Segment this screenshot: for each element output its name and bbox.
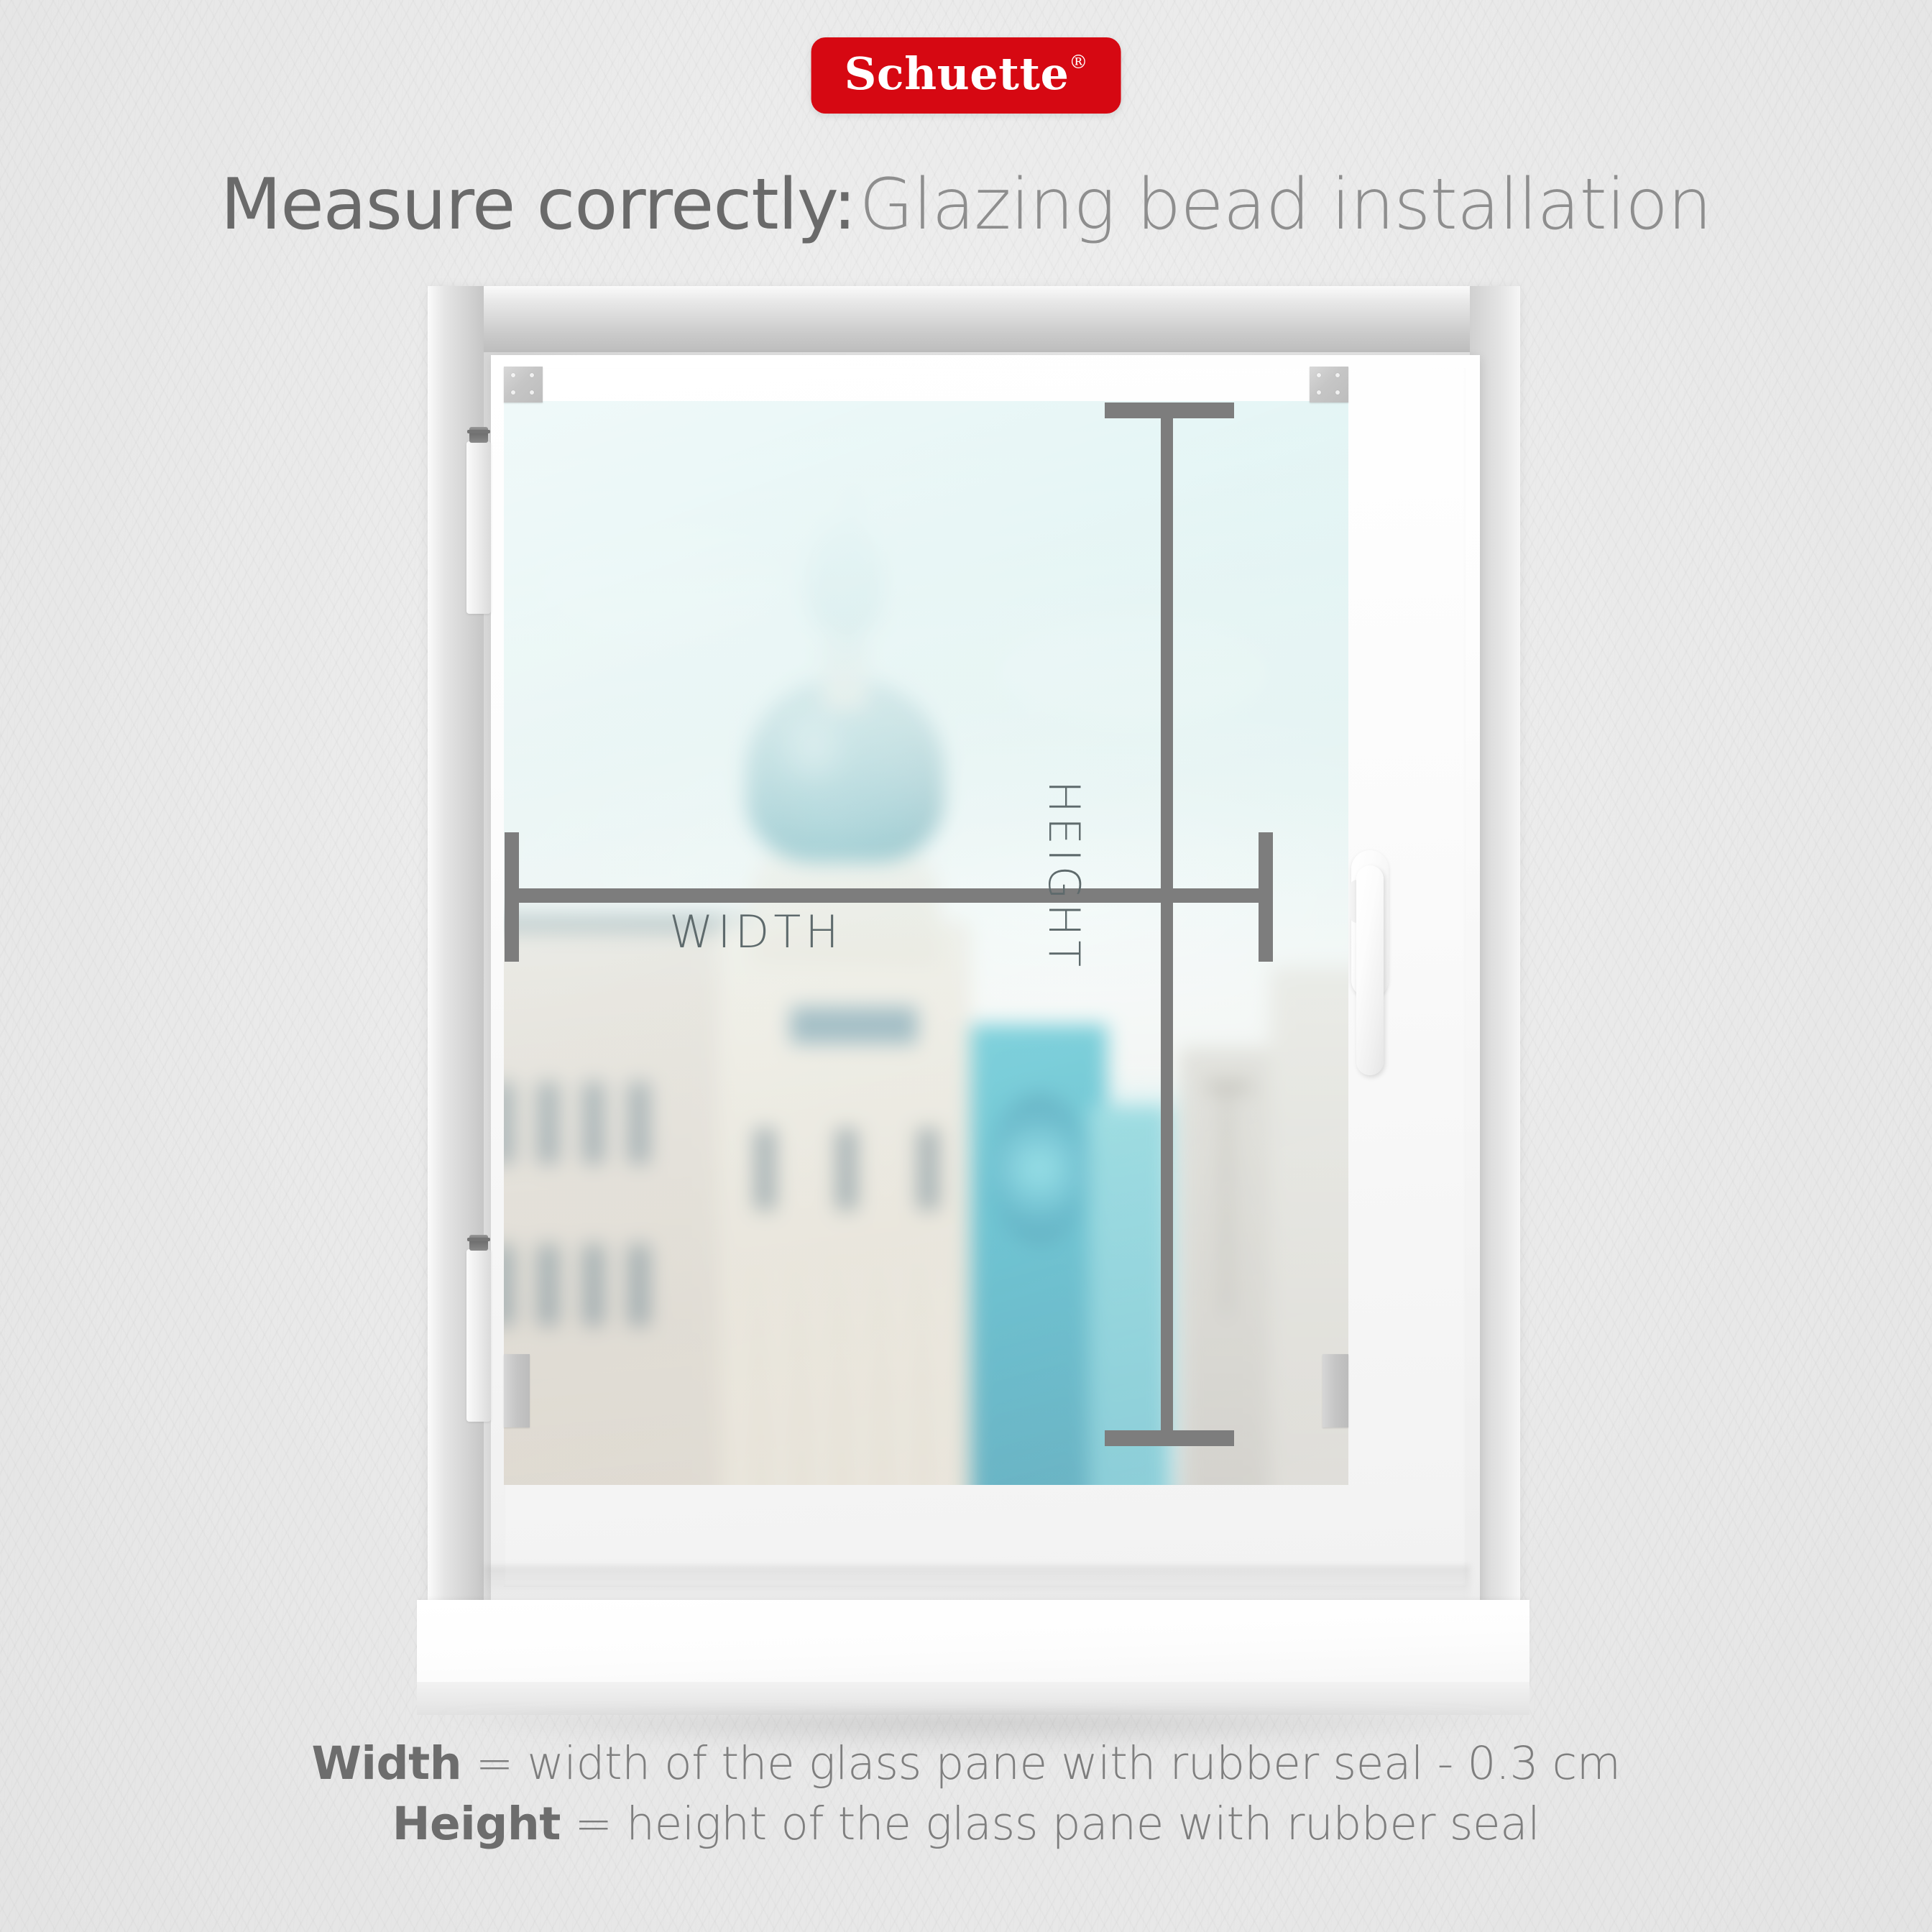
cloud	[998, 618, 1269, 722]
window-opening	[836, 1128, 857, 1210]
window-sill-front	[417, 1682, 1529, 1715]
window-opening	[628, 1082, 650, 1164]
rooftop-statue	[799, 514, 890, 630]
window-opening	[538, 1245, 559, 1326]
window-handle[interactable]	[1356, 865, 1384, 1075]
registered-trademark-icon: ®	[1069, 53, 1087, 72]
dome-highlight	[773, 699, 854, 792]
window-hinge-top	[466, 441, 491, 614]
screw-dot-icon	[1317, 390, 1321, 395]
building-column	[777, 1268, 791, 1485]
page-title-light: Glazing bead installation	[859, 164, 1711, 246]
page-title: Measure correctly: Glazing bead installa…	[0, 164, 1932, 246]
legend-value-height: = height of the glass pane with rubber s…	[561, 1798, 1540, 1850]
screw-dot-icon	[1335, 390, 1340, 395]
brand-name: Schuette	[845, 52, 1069, 96]
building-column	[736, 1268, 750, 1485]
building-column	[858, 1268, 873, 1485]
glazing-bracket-bottom-right	[1322, 1354, 1348, 1427]
window-opening	[504, 1082, 514, 1164]
window-opening	[917, 1128, 939, 1210]
window-reveal-top	[428, 286, 1520, 352]
window-diagram: WIDTH HEIGHT	[428, 286, 1520, 1688]
frame-drop-shadow	[484, 1565, 1470, 1604]
screw-dot-icon	[530, 373, 534, 377]
building-sign-band	[791, 1007, 917, 1044]
window-opening	[538, 1082, 559, 1164]
dome-lantern	[822, 618, 868, 711]
city-view-scene	[504, 401, 1348, 1485]
building-column	[899, 1268, 914, 1485]
teal-building-secondary	[1089, 1105, 1170, 1485]
legend-key-height: Height	[392, 1798, 561, 1850]
screw-dot-icon	[511, 390, 515, 395]
measurement-legend: Width = width of the glass pane with rub…	[0, 1734, 1932, 1855]
hinge-knob-top-icon	[469, 427, 488, 443]
window-opening	[583, 1245, 604, 1326]
screw-dot-icon	[1335, 373, 1340, 377]
window-opening	[755, 1128, 776, 1210]
teal-building-circle	[990, 1094, 1089, 1245]
window-glass-pane	[504, 401, 1348, 1485]
screw-dot-icon	[511, 373, 515, 377]
hinge-knob-bottom-icon	[469, 1235, 488, 1251]
screw-dot-icon	[530, 390, 534, 395]
window-sill-top	[417, 1600, 1529, 1685]
window-hinge-bottom	[466, 1249, 491, 1422]
legend-line-height: Height = height of the glass pane with r…	[0, 1794, 1932, 1854]
brand-logo: Schuette ®	[811, 37, 1121, 114]
window-opening	[504, 1245, 514, 1326]
legend-key-width: Width	[311, 1737, 461, 1790]
screw-dot-icon	[1317, 373, 1321, 377]
cloud	[546, 525, 781, 641]
page-title-strong: Measure correctly:	[221, 164, 856, 246]
glazing-bracket-top-left	[504, 367, 543, 402]
window-opening	[583, 1082, 604, 1164]
legend-line-width: Width = width of the glass pane with rub…	[0, 1734, 1932, 1794]
cloud	[799, 433, 998, 525]
street-lamp-pole	[1224, 1082, 1228, 1315]
window-opening	[628, 1245, 650, 1326]
glazing-bracket-bottom-left	[504, 1354, 530, 1427]
building-column	[818, 1268, 832, 1485]
legend-value-width: = width of the glass pane with rubber se…	[461, 1737, 1620, 1790]
building-column	[939, 1268, 954, 1485]
glazing-bracket-top-right	[1310, 367, 1348, 402]
